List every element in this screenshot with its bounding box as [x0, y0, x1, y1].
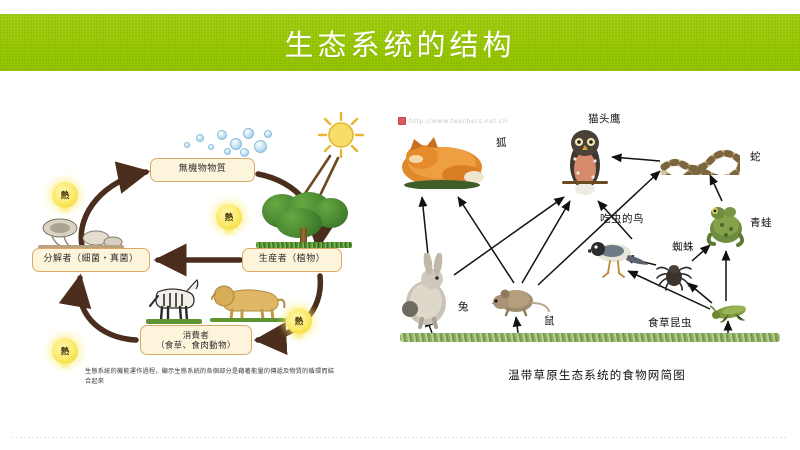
label-fox: 狐	[496, 135, 507, 150]
label-rabbit: 兔	[458, 299, 469, 314]
box-decomposer-label: 分解者（細菌・真菌）	[43, 254, 138, 265]
rabbit-illustration	[400, 253, 456, 329]
inorganic-molecules-illustration	[180, 124, 272, 160]
heat-label: 熱	[295, 315, 304, 327]
box-decomposer: 分解者（細菌・真菌）	[32, 248, 150, 272]
label-owl: 猫头鹰	[588, 111, 621, 126]
arrow-mouse-to-owl	[522, 201, 570, 283]
arrow-frog-to-snake	[710, 175, 722, 201]
box-producer: 生産者（植物）	[242, 248, 342, 272]
arrow-spider-to-frog	[692, 245, 710, 261]
heat-bubble-decomposer: 熱	[52, 182, 78, 208]
heat-label: 熱	[225, 211, 234, 223]
label-insect-eating-bird: 吃虫的鸟	[600, 211, 644, 226]
arrow-mouse-to-fox	[458, 197, 514, 283]
sun-illustration	[318, 112, 364, 158]
label-mouse: 鼠	[544, 313, 555, 328]
ecosystem-cycle-diagram: 無機物物質 生産者（植物） 分解者（細菌・真菌） 消費者 （食草、食肉動物） 熱…	[30, 100, 370, 400]
consumer-lion-illustration	[210, 280, 286, 322]
herbivorous-insect-illustration	[710, 301, 750, 323]
frog-illustration	[704, 201, 748, 247]
box-consumer: 消費者 （食草、食肉動物）	[140, 325, 252, 355]
grass-ground-strip	[400, 333, 780, 342]
food-web-caption: 温带草原生态系统的食物网简图	[447, 367, 747, 383]
box-consumer-label-2: （食草、食肉動物）	[156, 340, 236, 350]
label-frog: 青蛙	[750, 215, 772, 230]
label-snake: 蛇	[750, 149, 761, 164]
arrow-grass-to-mouse	[516, 317, 518, 333]
slide-title-banner: 生态系统的结构	[0, 14, 800, 71]
cycle-diagram-caption: 生態系統的機能運作過程，顯示生態系統的各個部分是藉著能量的傳遞及物質的循環而結合…	[85, 367, 335, 387]
heat-bubble-producer: 熱	[286, 308, 312, 334]
owl-illustration	[562, 125, 608, 195]
fox-illustration	[400, 127, 484, 189]
arrow-snake-to-owl	[612, 157, 660, 161]
box-producer-label: 生産者（植物）	[259, 254, 326, 265]
slide-canvas: 生态系统的结构	[0, 0, 800, 450]
box-consumer-label-1: 消費者	[183, 330, 210, 340]
box-inorganic-label: 無機物物質	[179, 164, 227, 175]
heat-label: 熱	[61, 189, 70, 201]
producer-tree-illustration	[256, 192, 352, 250]
snake-illustration	[660, 133, 740, 175]
insect-eating-bird-illustration	[588, 233, 648, 281]
box-inorganic-matter: 無機物物質	[150, 158, 255, 182]
page-title: 生态系统的结构	[284, 22, 515, 64]
arrow-rabbit-to-owl	[454, 197, 564, 275]
spider-illustration	[654, 255, 694, 291]
bottom-divider	[12, 437, 788, 438]
heat-bubble-center: 熱	[216, 204, 242, 230]
food-web-diagram: http://www.teachers.net.cn	[392, 105, 792, 395]
heat-label: 熱	[61, 345, 70, 357]
arrow-rabbit-to-fox	[422, 197, 428, 255]
consumer-zebra-illustration	[146, 276, 202, 324]
mouse-illustration	[492, 283, 550, 317]
label-spider: 蜘蛛	[672, 239, 694, 254]
heat-bubble-consumer: 熱	[52, 338, 78, 364]
decomposer-fungi-illustration	[38, 216, 124, 250]
arrow-consumer-to-decomposer	[79, 278, 136, 340]
label-herbivorous-insect: 食草昆虫	[648, 315, 692, 330]
